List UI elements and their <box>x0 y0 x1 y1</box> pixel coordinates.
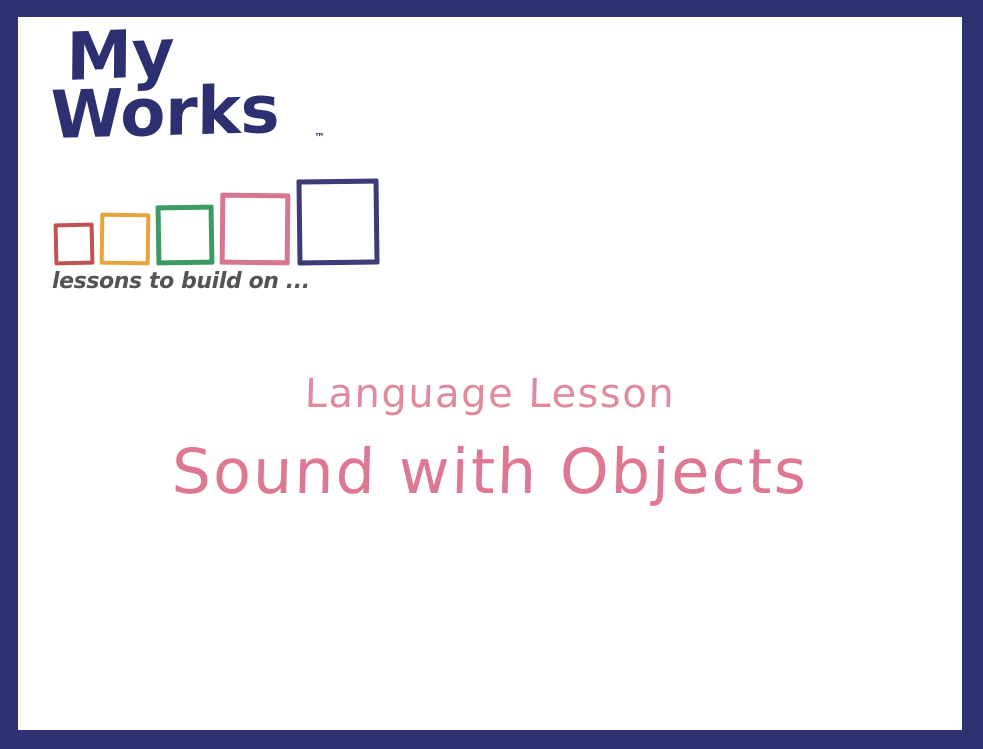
logo-tagline: lessons to build on ... <box>52 269 310 294</box>
brand-logo: My Works ™ lessons to build on ... <box>36 21 396 296</box>
lesson-title: Sound with Objects <box>18 438 962 506</box>
slide-frame: My Works ™ lessons to build on ... Langu… <box>0 0 983 749</box>
trademark-icon: ™ <box>314 131 325 144</box>
logo-square-green <box>156 205 215 266</box>
logo-square-red <box>54 223 95 266</box>
logo-word-works: Works <box>50 77 280 149</box>
lesson-subtitle: Language Lesson <box>18 372 962 416</box>
logo-squares-group <box>52 169 396 265</box>
logo-square-navy <box>296 179 379 266</box>
lesson-text-block: Language Lesson Sound with Objects <box>18 372 962 506</box>
logo-square-pink <box>220 193 291 266</box>
slide-canvas: My Works ™ lessons to build on ... Langu… <box>18 17 962 730</box>
logo-square-orange <box>100 213 151 266</box>
